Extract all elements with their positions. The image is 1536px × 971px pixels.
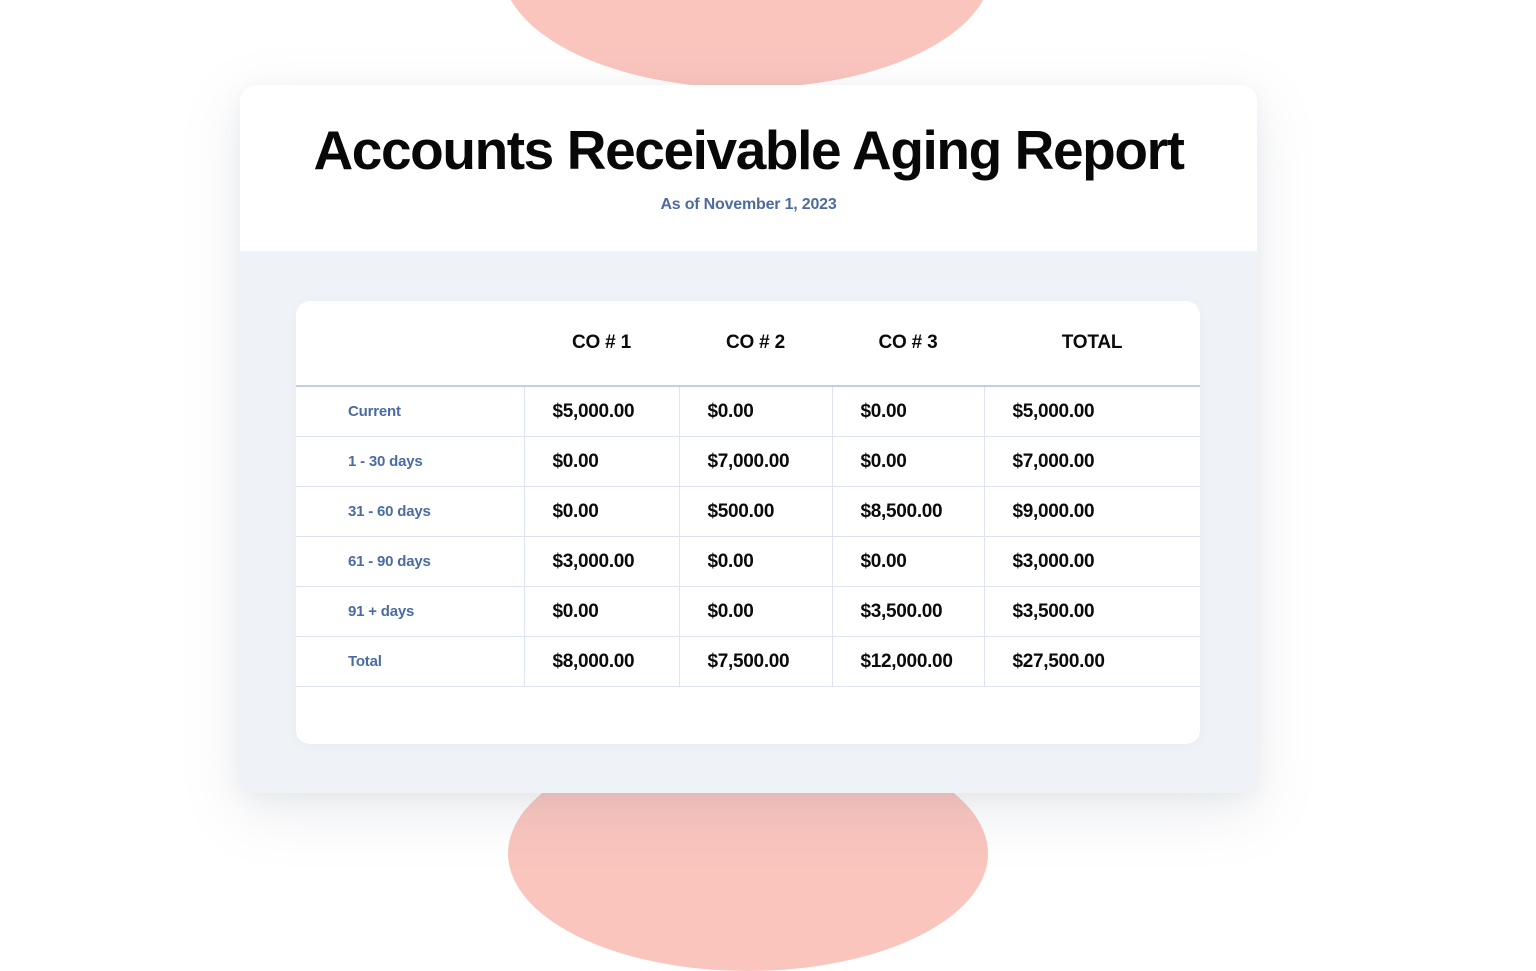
column-header-total: TOTAL [984,301,1200,386]
cell-total-co2: $7,500.00 [679,637,832,687]
cell-91-plus-days-co2: $0.00 [679,587,832,637]
cell-61-90-days-total: $3,000.00 [984,537,1200,587]
row-label-91-plus-days: 91 + days [296,587,524,637]
accounts-receivable-aging-table: CO # 1 CO # 2 CO # 3 TOTAL Current $5,00… [296,301,1200,687]
cell-current-co3: $0.00 [832,386,984,437]
table-row: 31 - 60 days $0.00 $500.00 $8,500.00 $9,… [296,487,1200,537]
cell-61-90-days-co2: $0.00 [679,537,832,587]
cell-31-60-days-total: $9,000.00 [984,487,1200,537]
cell-1-30-days-co1: $0.00 [524,437,679,487]
cell-31-60-days-co3: $8,500.00 [832,487,984,537]
row-label-31-60-days: 31 - 60 days [296,487,524,537]
row-label-total: Total [296,637,524,687]
cell-current-co2: $0.00 [679,386,832,437]
row-label-1-30-days: 1 - 30 days [296,437,524,487]
cell-1-30-days-co2: $7,000.00 [679,437,832,487]
report-card: Accounts Receivable Aging Report As of N… [240,85,1257,793]
table-head: CO # 1 CO # 2 CO # 3 TOTAL [296,301,1200,386]
table-row: Total $8,000.00 $7,500.00 $12,000.00 $27… [296,637,1200,687]
cell-total-total: $27,500.00 [984,637,1200,687]
row-label-61-90-days: 61 - 90 days [296,537,524,587]
cell-61-90-days-co1: $3,000.00 [524,537,679,587]
cell-current-co1: $5,000.00 [524,386,679,437]
table-row: Current $5,000.00 $0.00 $0.00 $5,000.00 [296,386,1200,437]
table-row: 61 - 90 days $3,000.00 $0.00 $0.00 $3,00… [296,537,1200,587]
cell-91-plus-days-total: $3,500.00 [984,587,1200,637]
row-label-current: Current [296,386,524,437]
aging-table-card: CO # 1 CO # 2 CO # 3 TOTAL Current $5,00… [296,301,1200,744]
column-header-co2: CO # 2 [679,301,832,386]
cell-91-plus-days-co1: $0.00 [524,587,679,637]
table-row: 1 - 30 days $0.00 $7,000.00 $0.00 $7,000… [296,437,1200,487]
cell-31-60-days-co1: $0.00 [524,487,679,537]
decorative-circle-top [502,0,992,88]
cell-91-plus-days-co3: $3,500.00 [832,587,984,637]
cell-1-30-days-total: $7,000.00 [984,437,1200,487]
table-header-row: CO # 1 CO # 2 CO # 3 TOTAL [296,301,1200,386]
table-row: 91 + days $0.00 $0.00 $3,500.00 $3,500.0… [296,587,1200,637]
report-header: Accounts Receivable Aging Report As of N… [240,85,1257,251]
page-title: Accounts Receivable Aging Report [313,122,1183,179]
column-header-blank [296,301,524,386]
report-date-subtitle: As of November 1, 2023 [660,196,836,214]
column-header-co3: CO # 3 [832,301,984,386]
cell-31-60-days-co2: $500.00 [679,487,832,537]
cell-current-total: $5,000.00 [984,386,1200,437]
cell-1-30-days-co3: $0.00 [832,437,984,487]
table-body: Current $5,000.00 $0.00 $0.00 $5,000.00 … [296,386,1200,687]
cell-total-co1: $8,000.00 [524,637,679,687]
cell-total-co3: $12,000.00 [832,637,984,687]
column-header-co1: CO # 1 [524,301,679,386]
cell-61-90-days-co3: $0.00 [832,537,984,587]
